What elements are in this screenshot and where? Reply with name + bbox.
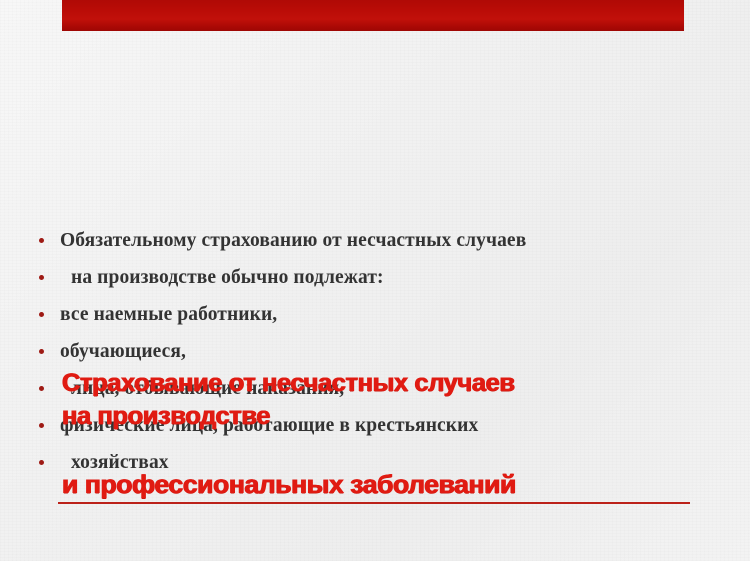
overlay-title-line-3: и профессиональных заболеваний [62, 469, 516, 500]
slide-canvas: Обязательному страхованию от несчастных … [0, 0, 750, 561]
bullet-dot-icon [39, 349, 44, 354]
list-item: обучающиеся, [0, 333, 750, 370]
bullet-dot-icon [39, 238, 44, 243]
list-item-label: обучающиеся, [60, 333, 186, 370]
overlay-title-line-1: Страхование от несчастных случаев [62, 369, 515, 398]
bullet-dot-icon [39, 460, 44, 465]
bullet-dot-icon [39, 275, 44, 280]
bullet-dot-icon [39, 423, 44, 428]
red-banner [62, 0, 684, 31]
list-item: Обязательному страхованию от несчастных … [0, 222, 750, 259]
bottom-divider [58, 502, 690, 504]
list-item-label: все наемные работники, [60, 296, 277, 333]
bullet-dot-icon [39, 386, 44, 391]
list-item: на производстве обычно подлежат: [0, 259, 750, 296]
list-item: все наемные работники, [0, 296, 750, 333]
bullet-list: Обязательному страхованию от несчастных … [0, 222, 750, 481]
overlay-title-line-2: на производстве [62, 402, 270, 431]
list-item-label: Обязательному страхованию от несчастных … [60, 222, 526, 259]
list-item-label: на производстве обычно подлежат: [71, 259, 384, 296]
bullet-dot-icon [39, 312, 44, 317]
